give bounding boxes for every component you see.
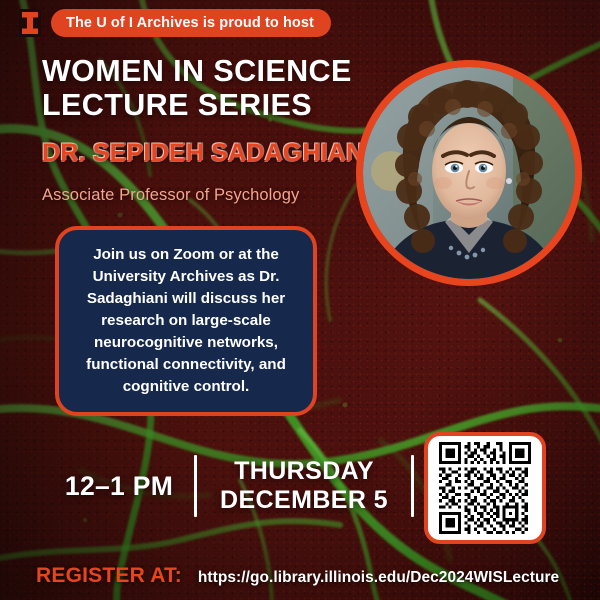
speaker-portrait-image xyxy=(363,67,575,279)
illinois-block-i-icon xyxy=(18,8,42,38)
description-text: Join us on Zoom or at the University Arc… xyxy=(77,244,295,398)
divider-right xyxy=(411,455,414,517)
description-box: Join us on Zoom or at the University Arc… xyxy=(55,226,317,416)
series-title-line-2: Lecture Series xyxy=(42,88,372,122)
speaker-name: Dr. Sepideh Sadaghiani xyxy=(42,140,372,168)
event-date: Thursday December 5 xyxy=(197,457,411,515)
series-title-line-1: Women in Science xyxy=(42,54,372,88)
flyer-canvas: The U of I Archives is proud to host Wom… xyxy=(0,0,600,600)
speaker-portrait xyxy=(356,60,582,286)
qr-code-icon[interactable] xyxy=(439,442,531,534)
footer-register-row: Register at: https://go.library.illinois… xyxy=(36,564,559,588)
banner-text: The U of I Archives is proud to host xyxy=(66,15,314,31)
top-banner: The U of I Archives is proud to host xyxy=(18,8,331,38)
register-label: Register at: xyxy=(36,564,182,588)
register-url[interactable]: https://go.library.illinois.edu/Dec2024W… xyxy=(198,569,559,587)
headline-block: Women in Science Lecture Series Dr. Sepi… xyxy=(42,54,372,205)
event-time: 12–1 PM xyxy=(44,471,194,502)
banner-pill: The U of I Archives is proud to host xyxy=(51,9,331,37)
qr-code-card[interactable] xyxy=(424,432,546,544)
speaker-role: Associate Professor of Psychology xyxy=(42,186,372,205)
event-date-day: December 5 xyxy=(197,486,411,515)
event-when-row: 12–1 PM Thursday December 5 xyxy=(44,447,414,525)
event-date-weekday: Thursday xyxy=(197,457,411,486)
